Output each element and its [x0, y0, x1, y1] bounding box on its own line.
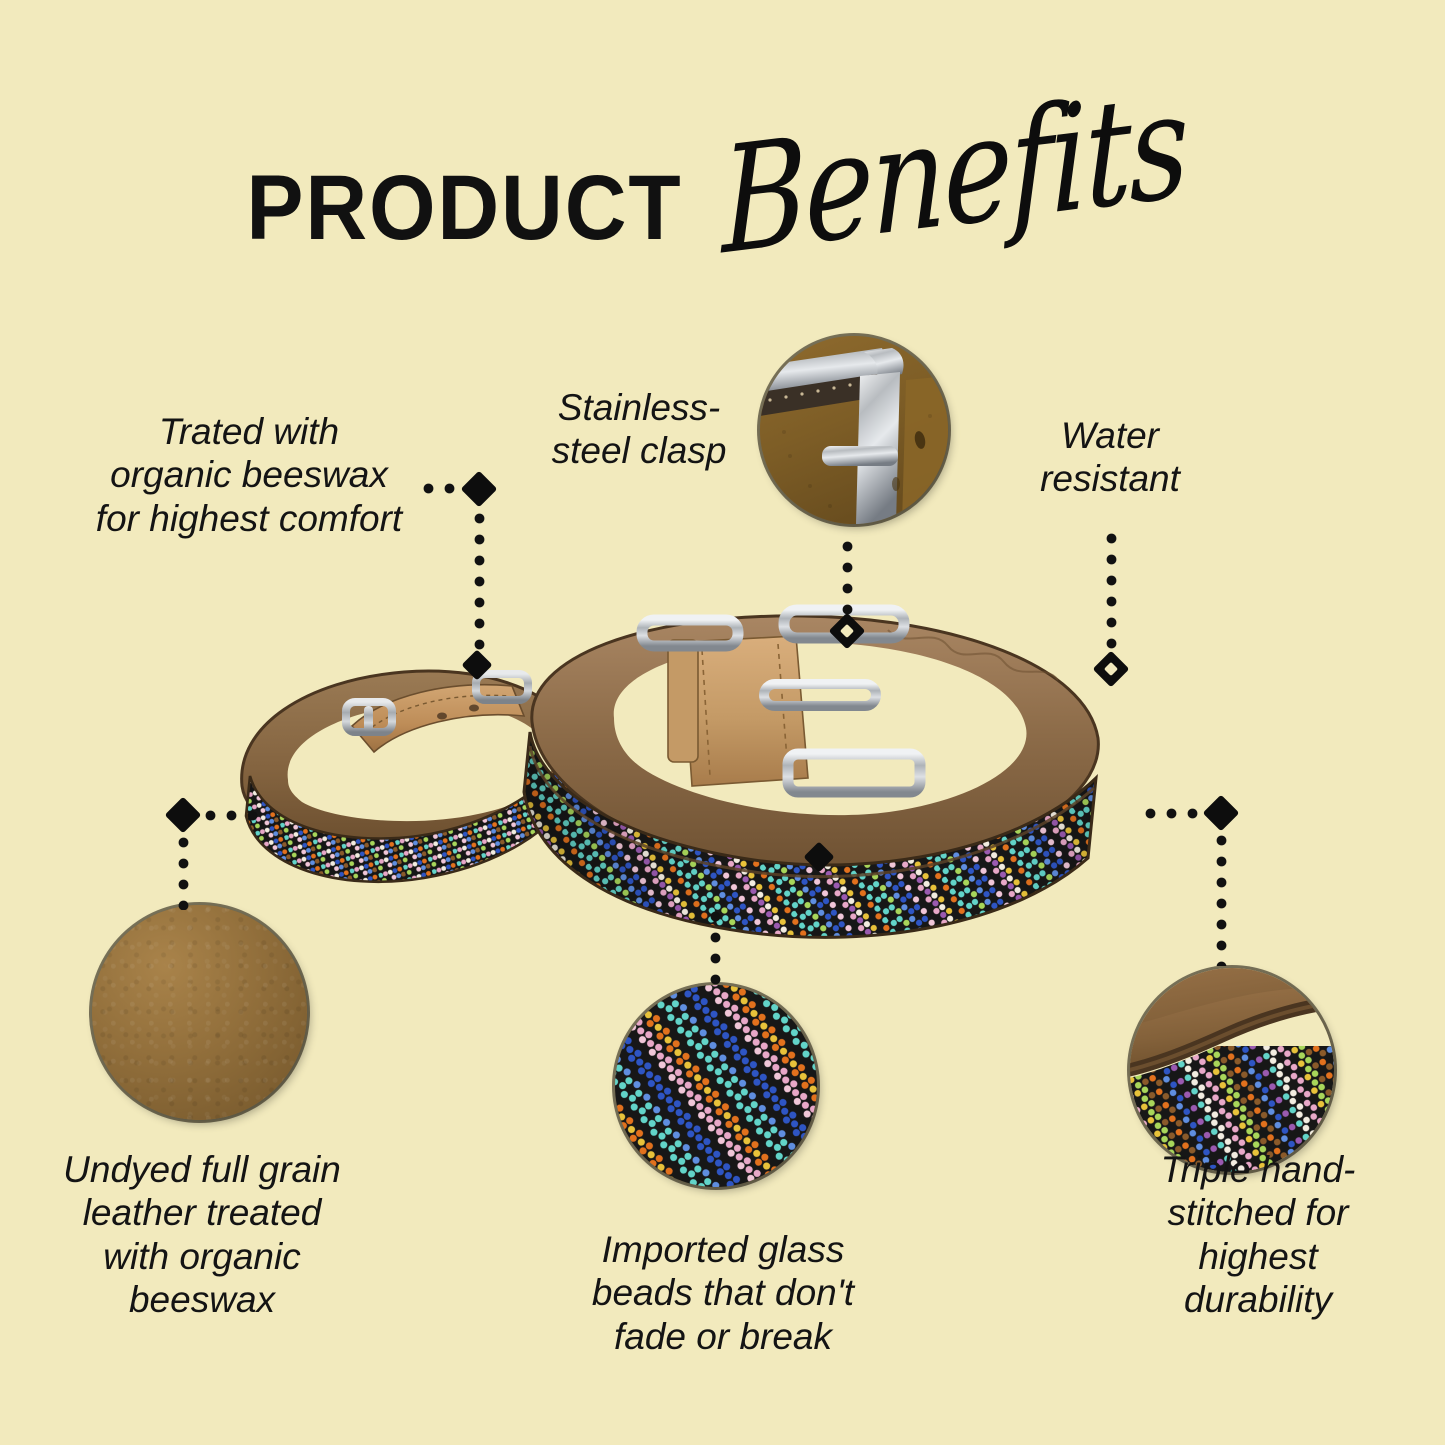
page-title-script: Benefits — [720, 60, 1188, 288]
marker-stitched-source — [1203, 795, 1240, 832]
connector-beads-vertical — [709, 906, 722, 988]
beadwork-closeup-photo — [615, 985, 817, 1187]
callout-label-beeswax-comfort: Trated with organic beeswax for highest … — [44, 410, 454, 540]
infographic-canvas: PRODUCTBenefits — [0, 0, 1445, 1445]
leather-swatch-photo — [92, 905, 307, 1120]
main-collar-image — [496, 596, 1136, 986]
connector-stitched-horizontal — [1140, 807, 1204, 820]
connector-clasp-vertical — [841, 536, 854, 620]
callout-label-water-resistant: Water resistant — [995, 414, 1225, 501]
connector-stitched-vertical — [1215, 830, 1228, 966]
connector-beeswax-vertical — [473, 508, 486, 658]
connector-leather-vertical — [177, 832, 190, 910]
connector-water-resistant-vertical — [1105, 528, 1118, 658]
stitched-edge-closeup-photo — [1130, 968, 1334, 1172]
marker-leather-source — [165, 797, 202, 834]
callout-label-imported-beads: Imported glass beads that don't fade or … — [548, 1228, 898, 1358]
clasp-closeup-photo — [760, 336, 948, 524]
page-title: PRODUCTBenefits — [0, 136, 1445, 280]
marker-beeswax-top — [461, 471, 498, 508]
connector-leather-horizontal — [200, 809, 266, 822]
callout-label-triple-stitched: Triple hand- stitched for highest durabi… — [1098, 1148, 1418, 1321]
callout-label-undyed-leather: Undyed full grain leather treated with o… — [12, 1148, 392, 1321]
callout-label-stainless-steel-clasp: Stainless- steel clasp — [510, 386, 768, 473]
page-title-bold: PRODUCT — [246, 156, 682, 261]
